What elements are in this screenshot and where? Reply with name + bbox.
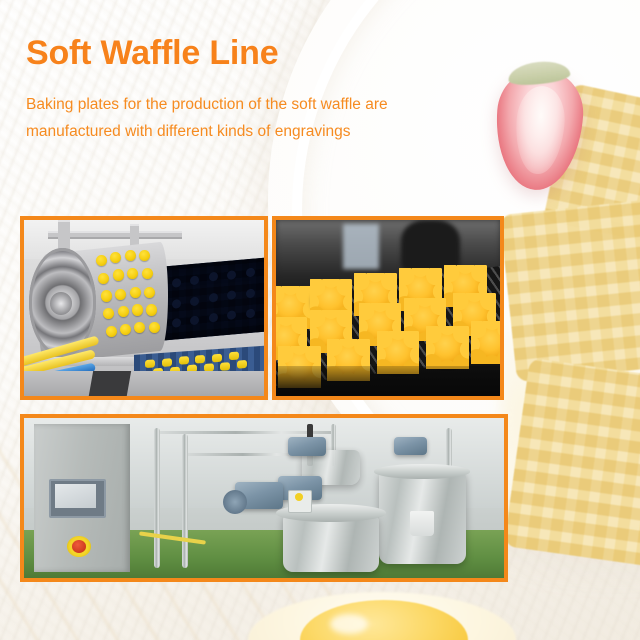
photo1-wheel-hub bbox=[50, 292, 72, 315]
banner-header: Soft Waffle Line Baking plates for the p… bbox=[26, 36, 496, 145]
photo2-window bbox=[343, 224, 379, 270]
banner-stage: Soft Waffle Line Baking plates for the p… bbox=[0, 0, 640, 640]
page-subtitle: Baking plates for the production of the … bbox=[26, 92, 478, 145]
photo-frame-baking-drum bbox=[20, 216, 268, 400]
photo1-floor-mark bbox=[89, 371, 132, 396]
waffle-middle-right bbox=[500, 198, 640, 383]
photo3-pipe-vertical-2 bbox=[182, 434, 187, 568]
photo-waffles-conveyor bbox=[276, 220, 500, 396]
page-title: Soft Waffle Line bbox=[26, 36, 496, 70]
photo-baking-drum bbox=[24, 220, 264, 396]
egg-yolk-highlight bbox=[330, 614, 368, 634]
photo-frame-mixing-tanks bbox=[20, 414, 508, 582]
photo-frame-waffles-conveyor bbox=[272, 216, 504, 400]
photo3-motor-right bbox=[394, 437, 428, 455]
photo1-baking-plates-belt bbox=[158, 257, 268, 341]
photo3-bucket bbox=[410, 511, 434, 537]
photo3-tank-front bbox=[283, 514, 379, 572]
photo3-hmi-screen bbox=[55, 484, 96, 508]
photo-mixing-tanks bbox=[24, 418, 504, 578]
photo1-floor bbox=[24, 371, 264, 396]
photo3-motor-rear bbox=[288, 437, 326, 456]
photo3-pipe-vertical-1 bbox=[154, 428, 160, 569]
photo2-foreground-shadow bbox=[276, 366, 500, 396]
photo3-tank-right-lid bbox=[374, 464, 470, 478]
photo3-motor-fan bbox=[223, 490, 247, 514]
